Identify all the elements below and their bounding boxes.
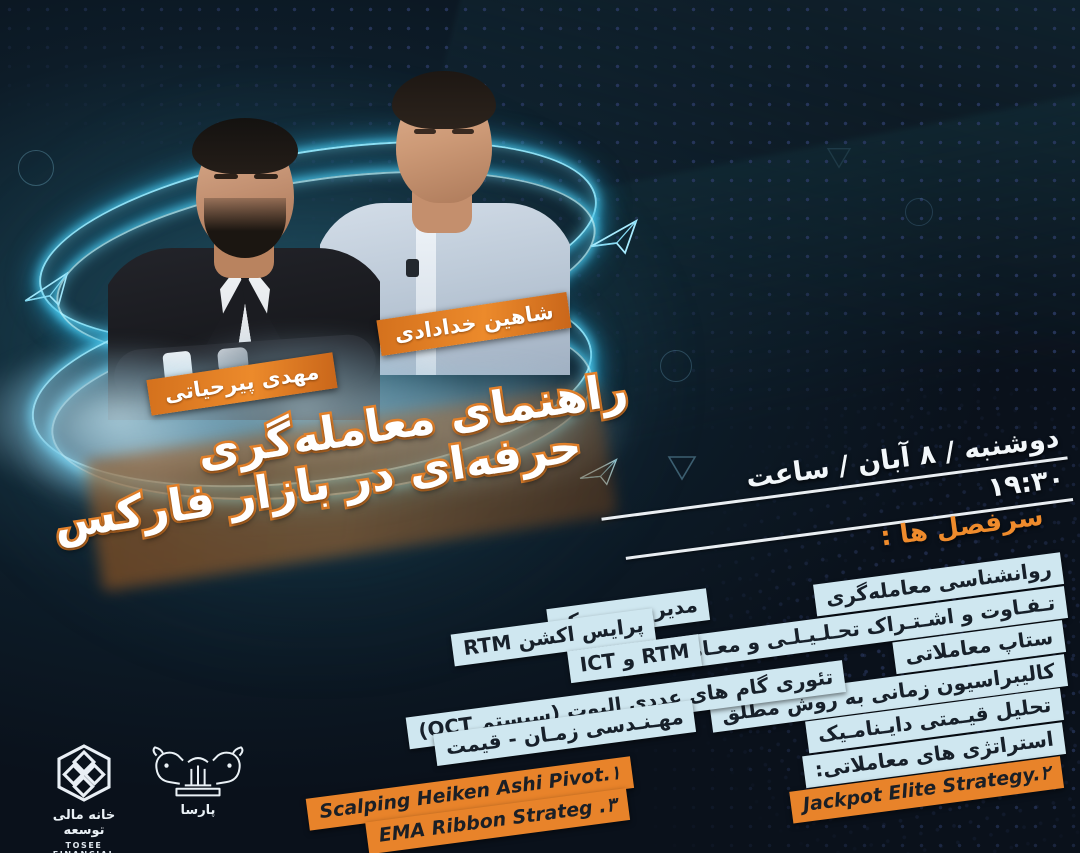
logo-tosee-financial-house: خانه مالی توسعه TOSEE FINANCIAL HOUSE [34,742,134,853]
topics-list: روانشناسی معامله‌گری تـفـاوت و اشـتـراک … [0,0,1080,853]
parsa-bull-capital-icon [148,744,248,802]
logo-parsa: پارسا [144,744,252,818]
logo-parsa-persian-name: پارسا [144,803,252,818]
logo-tosee-caption: TOSEE FINANCIAL HOUSE [34,841,134,853]
logos-row: خانه مالی توسعه TOSEE FINANCIAL HOUSE [28,742,258,842]
tosee-mark-icon [47,742,121,804]
webinar-poster: مهدی پیرحیاتی شاهین خدادادی راهنمای معام… [0,0,1080,853]
logo-tosee-persian-name: خانه مالی توسعه [34,808,134,838]
